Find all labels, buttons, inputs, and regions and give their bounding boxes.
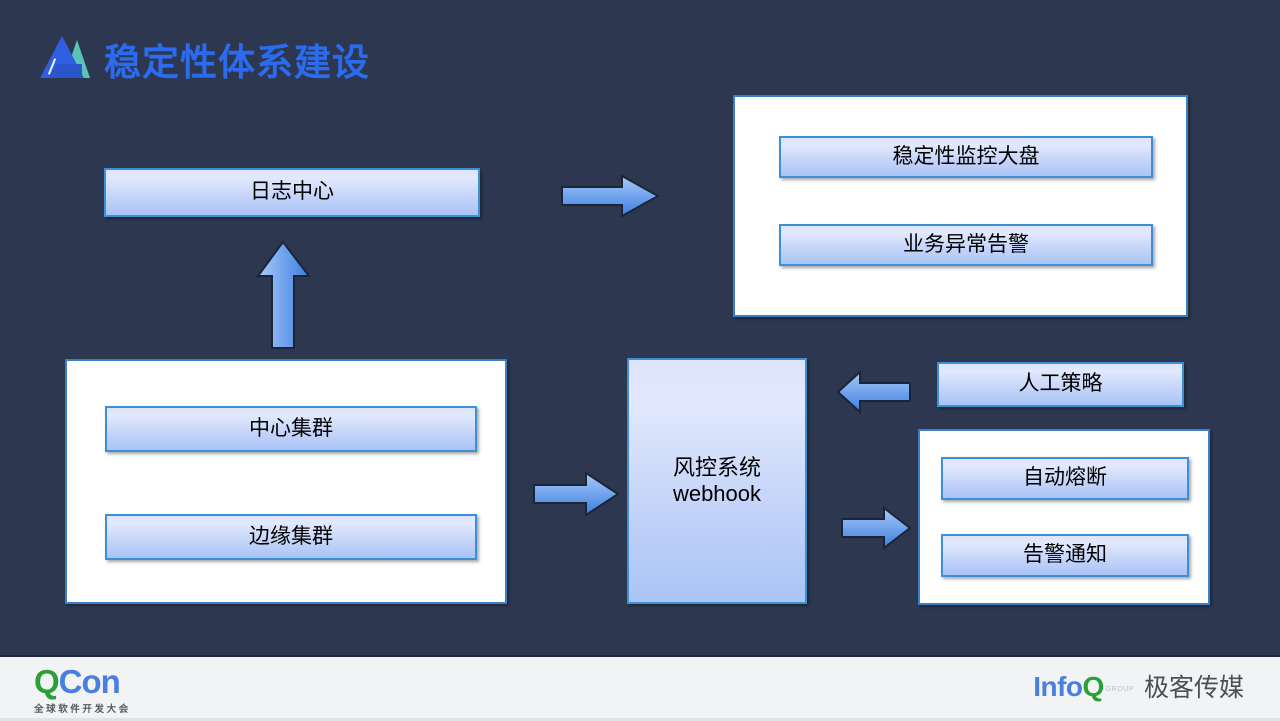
box-edge-cluster[interactable]: 边缘集群: [105, 514, 477, 560]
page-title: 稳定性体系建设: [104, 32, 370, 86]
arrow-cluster-to-risk: [532, 470, 620, 518]
arrow-risk-to-actions: [840, 506, 912, 550]
box-auto-fuse[interactable]: 自动熔断: [941, 457, 1189, 500]
qcon-subtitle: 全球软件开发大会: [34, 701, 131, 715]
infoq-letters-info: Info: [1033, 671, 1082, 702]
qcon-letters-con: Con: [59, 663, 120, 700]
infoq-logo: InfoQ GROUP 极客传媒: [1033, 673, 1244, 701]
box-central-cluster[interactable]: 中心集群: [105, 406, 477, 452]
qcon-letter-q: Q: [34, 663, 59, 700]
panel-actions: 自动熔断 告警通知: [918, 429, 1210, 605]
arrow-cluster-to-log: [256, 240, 312, 350]
mountain-triangle-logo-icon: [38, 34, 92, 84]
box-business-alert[interactable]: 业务异常告警: [779, 224, 1153, 266]
panel-clusters: 中心集群 边缘集群: [65, 359, 507, 604]
infoq-wordmark: InfoQ: [1033, 673, 1104, 701]
box-manual-policy[interactable]: 人工策略: [937, 362, 1184, 407]
box-risk-control-webhook[interactable]: 风控系统 webhook: [627, 358, 807, 604]
slide-footer: QCon 全球软件开发大会 InfoQ GROUP 极客传媒: [0, 655, 1280, 721]
box-alert-notify[interactable]: 告警通知: [941, 534, 1189, 577]
qcon-wordmark: QCon: [34, 665, 131, 698]
infoq-chinese-name: 极客传媒: [1144, 676, 1244, 701]
panel-monitoring: 稳定性监控大盘 业务异常告警: [733, 95, 1188, 317]
slide-header: 稳定性体系建设: [38, 28, 370, 90]
slide-canvas: 稳定性体系建设 日志中心 稳定性监控大盘 业务异常告警: [0, 0, 1280, 721]
box-stability-dashboard[interactable]: 稳定性监控大盘: [779, 136, 1153, 178]
infoq-group-label: GROUP: [1106, 686, 1134, 693]
arrow-log-to-monitor: [560, 174, 660, 218]
qcon-logo: QCon 全球软件开发大会: [34, 665, 131, 715]
arrow-manual-to-risk: [836, 370, 912, 414]
infoq-letter-q: Q: [1083, 671, 1104, 702]
box-log-center[interactable]: 日志中心: [104, 168, 480, 217]
